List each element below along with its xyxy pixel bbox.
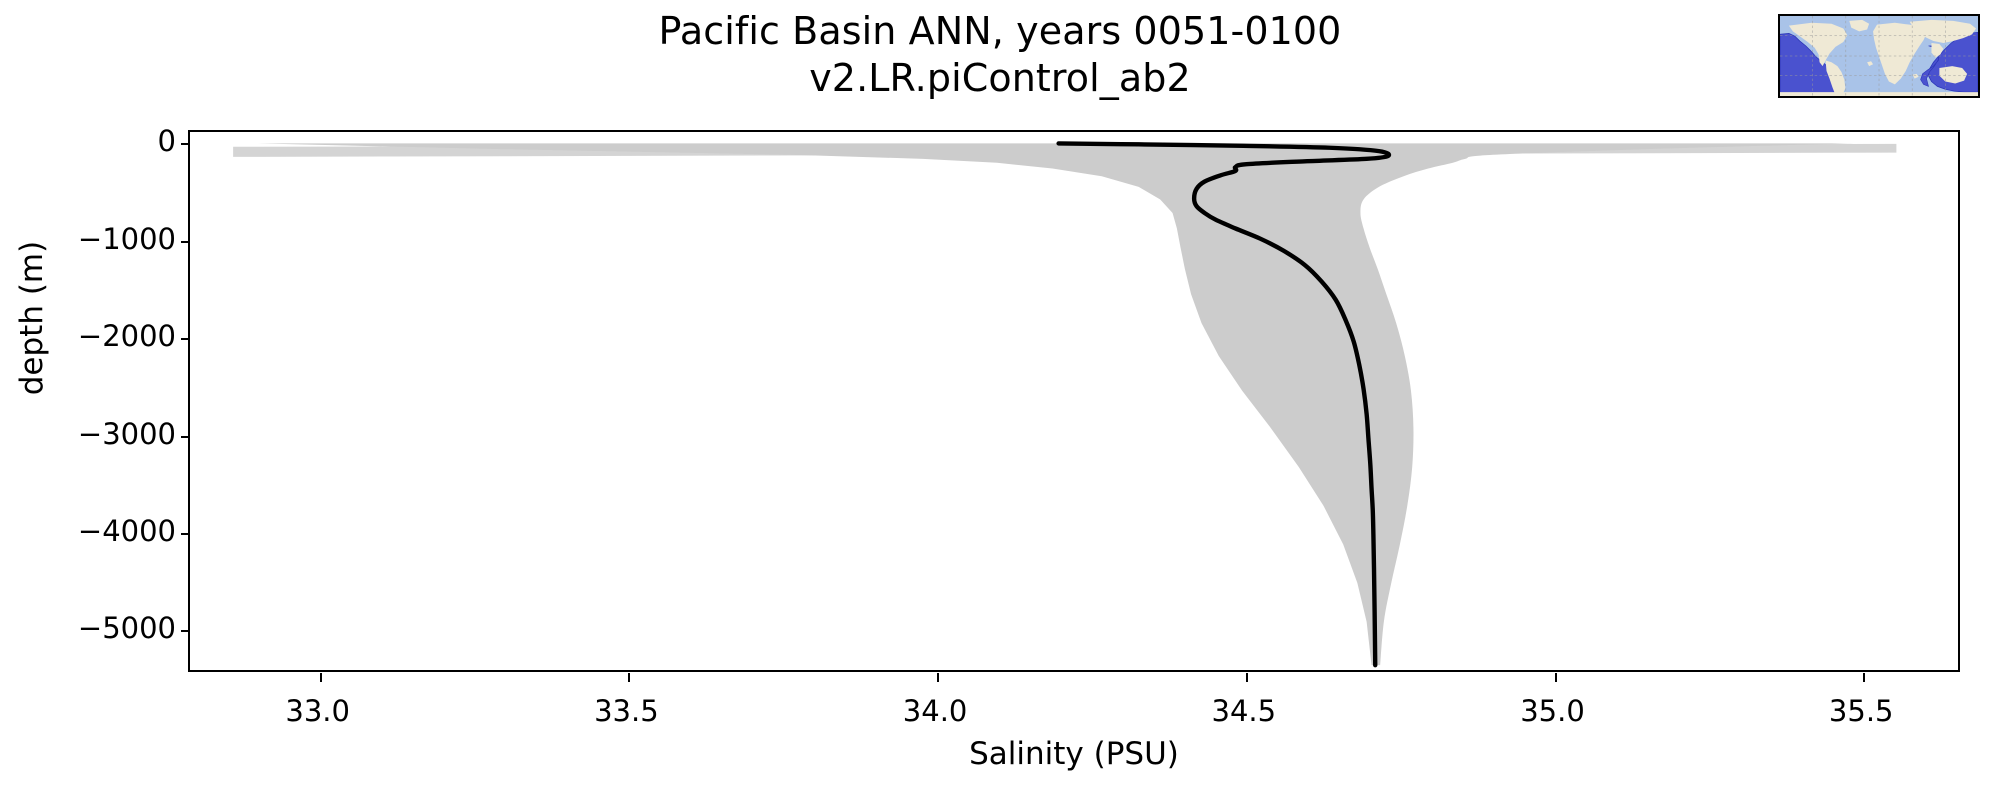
- y-tick-mark: [181, 533, 190, 535]
- figure-title: Pacific Basin ANN, years 0051-0100 v2.LR…: [0, 8, 2000, 102]
- y-tick-mark: [181, 143, 190, 145]
- figure-canvas: Pacific Basin ANN, years 0051-0100 v2.LR…: [0, 0, 2000, 800]
- x-tick-label: 34.0: [903, 694, 968, 728]
- x-tick-label: 33.5: [594, 694, 659, 728]
- y-axis-label: depth (m): [14, 168, 50, 468]
- plot-axes-frame: [188, 130, 1960, 672]
- y-tick-mark: [181, 436, 190, 438]
- x-tick-mark: [1555, 673, 1557, 682]
- x-tick-mark: [1863, 673, 1865, 682]
- x-tick-mark: [628, 673, 630, 682]
- y-tick-label: −3000: [78, 417, 176, 451]
- plot-drawing-area: [190, 132, 1958, 670]
- x-tick-label: 34.5: [1211, 694, 1276, 728]
- x-tick-mark: [320, 673, 322, 682]
- y-tick-label: 0: [158, 124, 176, 158]
- x-tick-mark: [1246, 673, 1248, 682]
- figure-title-line-1: Pacific Basin ANN, years 0051-0100: [0, 8, 2000, 55]
- y-tick-mark: [181, 630, 190, 632]
- spread-envelope-band: [258, 143, 1854, 665]
- y-tick-label: −2000: [78, 319, 176, 353]
- y-tick-mark: [181, 241, 190, 243]
- x-axis-label: Salinity (PSU): [188, 736, 1960, 772]
- x-axis-tick-labels: 33.033.534.034.535.035.5: [188, 686, 1960, 726]
- figure-title-line-2: v2.LR.piControl_ab2: [0, 55, 2000, 102]
- locator-map-graphic: [1780, 16, 1978, 96]
- x-tick-mark: [937, 673, 939, 682]
- y-tick-mark: [181, 338, 190, 340]
- pacific-basin-locator-map: [1778, 14, 1980, 98]
- y-tick-label: −1000: [78, 222, 176, 256]
- y-axis-label-wrapper: depth (m): [0, 0, 1, 1]
- y-tick-label: −5000: [78, 611, 176, 645]
- x-tick-label: 35.0: [1520, 694, 1585, 728]
- y-tick-label: −4000: [78, 514, 176, 548]
- x-tick-label: 35.5: [1829, 694, 1894, 728]
- x-tick-label: 33.0: [285, 694, 350, 728]
- salinity-profile-graphic: [190, 132, 1958, 670]
